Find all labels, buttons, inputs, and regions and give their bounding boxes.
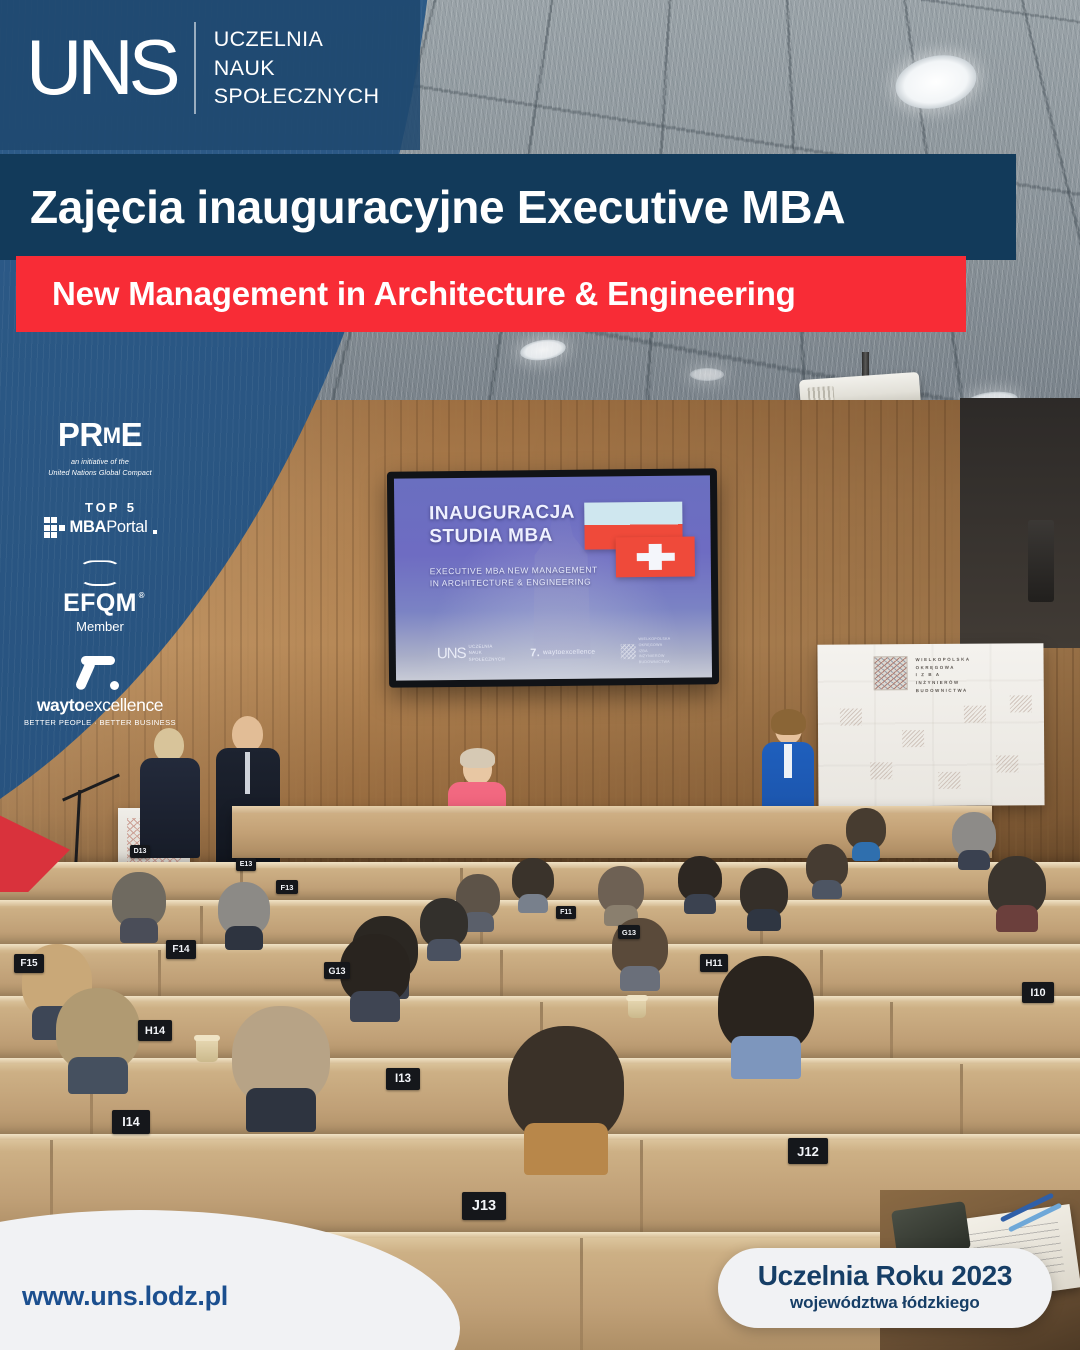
title-banner: Zajęcia inauguracyjne Executive MBA	[0, 154, 1016, 260]
seat-label: F13	[276, 880, 298, 894]
slide-w7-mark: 7.	[530, 647, 540, 659]
attendee	[952, 812, 996, 858]
rollup-pattern-icon	[938, 772, 960, 789]
side-wall	[960, 398, 1080, 648]
woiib-logo-icon	[874, 656, 908, 690]
slide-uns-words: UCZELNIA NAUK SPOŁECZNYCH	[468, 643, 504, 663]
prme-logo: PRME an initiative of the United Nations…	[48, 418, 152, 478]
slide-subtitle-line2: IN ARCHITECTURE & ENGINEERING	[430, 576, 598, 590]
subtitle-banner: New Management in Architecture & Enginee…	[16, 256, 966, 332]
uns-logo-words: UCZELNIA NAUK SPOŁECZNYCH	[214, 25, 380, 110]
seat-label: G13	[324, 962, 350, 979]
slide-uns-l3: SPOŁECZNYCH	[469, 656, 505, 663]
attendee	[340, 934, 410, 1004]
coffee-cup	[628, 998, 646, 1018]
seven-bar-stem	[74, 658, 96, 691]
uns-logo-line1: UCZELNIA	[214, 25, 380, 53]
waytoexcellence-tagline: BETTER PEOPLE · BETTER BUSINESS	[24, 718, 176, 727]
rollup-line5: BUDOWNICTWA	[916, 687, 971, 695]
seat-label: H14	[138, 1020, 172, 1041]
waytoexcellence-wordmark: waytoexcellence	[37, 695, 163, 716]
attendee	[508, 1026, 624, 1144]
mbaportal-logo: TOP 5 MBAPortal	[44, 500, 157, 538]
uns-logo-line2: NAUK	[214, 54, 380, 82]
efqm-word: EFQM	[63, 589, 137, 617]
slide-uns-logo: UNS UCZELNIA NAUK SPOŁECZNYCH	[437, 643, 505, 664]
seat-label: I13	[386, 1068, 420, 1090]
attendee	[112, 872, 166, 928]
attendee	[718, 956, 814, 1054]
attendee	[598, 866, 644, 914]
slide-title-line1: INAUGURACJA	[429, 501, 575, 526]
seat-label: F11	[556, 906, 576, 919]
prme-sub-line1: an initiative of the	[48, 456, 152, 467]
presenter-left-head	[154, 728, 184, 762]
attendee	[218, 882, 270, 936]
prme-main: PR	[58, 416, 103, 453]
efqm-wordmark: EFQM®	[63, 589, 137, 618]
seat-label: I14	[112, 1110, 150, 1134]
mbaportal-wordmark: MBAPortal	[70, 518, 148, 537]
efqm-member-label: Member	[76, 619, 124, 634]
projection-screen: INAUGURACJA STUDIA MBA EXECUTIVE MBA NEW…	[387, 468, 719, 687]
seat-label: E13	[236, 858, 256, 871]
slide-woiib-words: WIELKOPOLSKA OKRĘGOWA IZBA INŻYNIERÓW BU…	[638, 637, 670, 666]
attendee	[740, 868, 788, 918]
rollup-text: WIELKOPOLSKA OKRĘGOWA I Z B A INŻYNIERÓW…	[916, 656, 971, 695]
slide-subtitle: EXECUTIVE MBA NEW MANAGEMENT IN ARCHITEC…	[430, 563, 598, 589]
mbaportal-bold: MBA	[70, 518, 107, 536]
presenter-left	[140, 728, 200, 858]
seated-host-hair	[460, 748, 495, 768]
slide-waytoexcellence-logo: 7. waytoexcellence	[530, 646, 595, 659]
slide-woiib-l5: BUDOWNICTWA	[639, 660, 671, 666]
seven-mark-icon	[81, 656, 119, 690]
attendee	[846, 808, 886, 850]
prme-small: M	[103, 423, 121, 448]
switzerland-flag-icon	[616, 536, 695, 577]
poster-canvas: INAUGURACJA STUDIA MBA EXECUTIVE MBA NEW…	[0, 0, 1080, 1350]
prme-subtitle: an initiative of the United Nations Glob…	[48, 456, 152, 478]
rollup-pattern-icon	[964, 706, 986, 723]
seat-label: J12	[788, 1138, 828, 1164]
w7-bold: wayto	[37, 695, 85, 715]
slide-title-line2: STUDIA MBA	[429, 524, 575, 549]
attendee	[420, 898, 468, 948]
prme-end: E	[121, 416, 143, 453]
projector-mount	[862, 352, 869, 378]
page-subtitle: New Management in Architecture & Enginee…	[16, 275, 796, 313]
mbaportal-light: Portal	[106, 518, 147, 536]
presenter-left-body	[140, 758, 200, 858]
wall-speaker	[1028, 520, 1054, 602]
efqm-logo: EFQM® Member	[63, 560, 137, 634]
presenter-necktie	[245, 752, 250, 794]
seat-label: I10	[1022, 982, 1054, 1003]
w7-light: excellence	[84, 695, 163, 715]
prme-wordmark: PRME	[58, 418, 142, 451]
attendee	[678, 856, 722, 902]
slide-w7-word: waytoexcellence	[543, 649, 595, 657]
uns-logo-line3: SPOŁECZNYCH	[214, 82, 380, 110]
seat-label: F14	[166, 940, 196, 959]
presenter-right-hair	[771, 709, 806, 735]
rollup-banner: WIELKOPOLSKA OKRĘGOWA I Z B A INŻYNIERÓW…	[817, 643, 1044, 807]
seat-label: G13	[618, 925, 640, 939]
award-badge: Uczelnia Roku 2023 województwa łódzkiego	[718, 1248, 1052, 1328]
seat-label: F15	[14, 954, 44, 973]
seven-dot	[110, 681, 119, 690]
slide-woiib-mark-icon	[621, 644, 636, 659]
rollup-pattern-icon	[840, 708, 862, 725]
award-region: województwa łódzkiego	[758, 1293, 1012, 1313]
rollup-pattern-icon	[1010, 695, 1032, 712]
attendee	[988, 856, 1046, 916]
rollup-pattern-icon	[902, 730, 924, 747]
presenter-mic-head	[232, 716, 263, 752]
seat-label: J13	[462, 1192, 506, 1220]
seat-label: D13	[130, 845, 150, 858]
efqm-infinity-icon	[78, 560, 122, 586]
rollup-pattern-icon	[870, 762, 892, 779]
accreditation-logos: PRME an initiative of the United Nations…	[0, 418, 200, 727]
attendee	[806, 844, 848, 888]
slide-title: INAUGURACJA STUDIA MBA	[429, 501, 575, 549]
mbaportal-dot-icon	[153, 530, 157, 534]
mbaportal-grid-icon	[44, 517, 65, 538]
slide-uns-mark: UNS	[437, 645, 466, 662]
slide-logo-strip: UNS UCZELNIA NAUK SPOŁECZNYCH 7. waytoex…	[396, 636, 712, 668]
waytoexcellence-logo: waytoexcellence BETTER PEOPLE · BETTER B…	[24, 656, 176, 727]
efqm-registered-icon: ®	[139, 591, 145, 600]
mbaportal-top5: TOP 5	[85, 500, 137, 515]
award-title: Uczelnia Roku 2023	[758, 1261, 1012, 1291]
seat-label: H11	[700, 954, 728, 972]
prme-sub-line2: United Nations Global Compact	[48, 467, 152, 478]
rollup-pattern-icon	[996, 755, 1018, 772]
rollup-header: WIELKOPOLSKA OKRĘGOWA I Z B A INŻYNIERÓW…	[874, 656, 971, 695]
coffee-cup	[196, 1038, 218, 1062]
attendee	[56, 988, 140, 1072]
slide-woiib-logo: WIELKOPOLSKA OKRĘGOWA IZBA INŻYNIERÓW BU…	[620, 637, 670, 666]
rollup-line1: WIELKOPOLSKA	[916, 656, 971, 664]
logo-divider	[194, 22, 196, 114]
uns-logo[interactable]: UNS UCZELNIA NAUK SPOŁECZNYCH	[26, 22, 379, 114]
presenter-right-blouse	[784, 744, 792, 778]
uns-logo-mark: UNS	[26, 32, 176, 104]
ceiling-light-icon	[690, 368, 724, 381]
website-url[interactable]: www.uns.lodz.pl	[22, 1281, 228, 1312]
mbaportal-row: MBAPortal	[44, 517, 157, 538]
attendee	[512, 858, 554, 902]
page-title: Zajęcia inauguracyjne Executive MBA	[0, 180, 845, 234]
slide-surface: INAUGURACJA STUDIA MBA EXECUTIVE MBA NEW…	[394, 475, 712, 680]
attendee	[232, 1006, 330, 1106]
